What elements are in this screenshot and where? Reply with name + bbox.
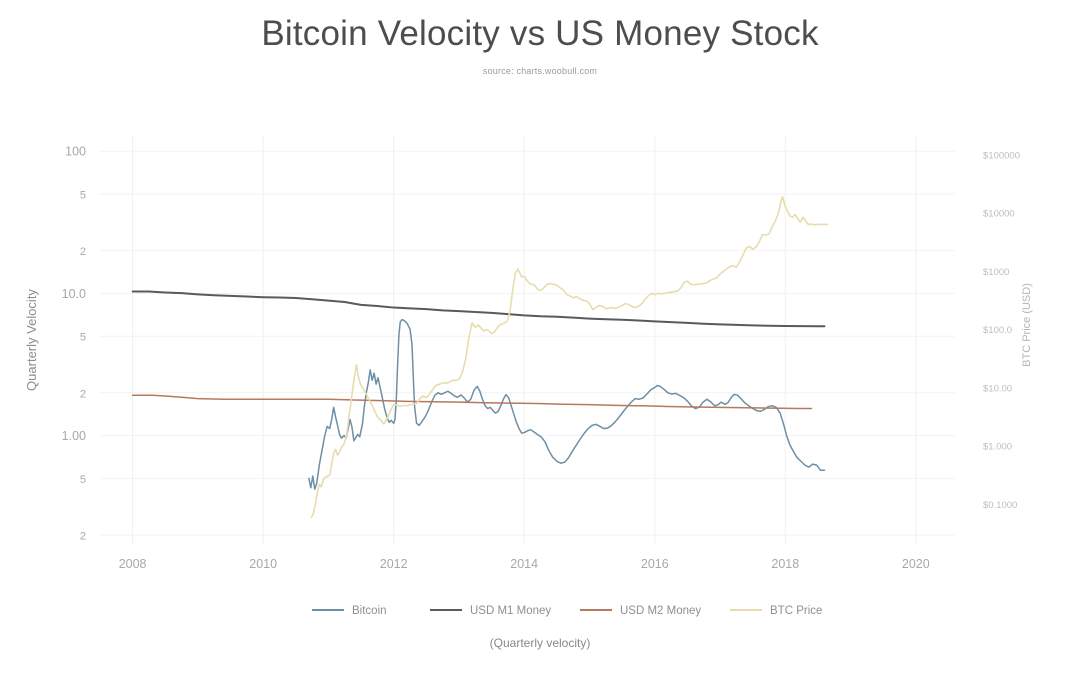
series-line-btc-price xyxy=(311,197,827,517)
y2-axis-tick-label: $0.1000 xyxy=(983,500,1017,511)
y-axis-tick-label: 5 xyxy=(80,332,86,344)
y2-axis-tick-label: $10000 xyxy=(983,209,1015,220)
y-axis-tick-label: 100 xyxy=(65,145,86,159)
x-axis-ticks: 2008201020122014201620182020 xyxy=(119,557,930,571)
legend-item-bitcoin[interactable]: Bitcoin xyxy=(312,605,387,617)
legend-item-usd-m1-money[interactable]: USD M1 Money xyxy=(430,605,551,617)
gridlines xyxy=(100,135,955,545)
chart-container: Bitcoin Velocity vs US Money Stock sourc… xyxy=(0,0,1080,675)
y2-axis-tick-label: $10.00 xyxy=(983,383,1012,394)
y-axis-tick-label: 1.00 xyxy=(62,429,86,443)
x-axis-tick-label: 2010 xyxy=(249,557,277,571)
series-line-usd-m1-money xyxy=(133,292,825,327)
y-axis-tick-label: 10.0 xyxy=(62,287,86,301)
legend-item-usd-m2-money[interactable]: USD M2 Money xyxy=(580,605,701,617)
x-axis-tick-label: 2012 xyxy=(380,557,408,571)
y-axis-tick-label: 5 xyxy=(80,190,86,202)
series-group xyxy=(133,197,828,517)
y2-axis-tick-label: $100000 xyxy=(983,150,1020,161)
chart-footer-caption: (Quarterly velocity) xyxy=(0,636,1080,650)
y2-axis-tick-label: $1000 xyxy=(983,267,1009,278)
legend-label: BTC Price xyxy=(770,605,822,617)
chart-legend: BitcoinUSD M1 MoneyUSD M2 MoneyBTC Price xyxy=(312,605,822,617)
x-axis-tick-label: 2016 xyxy=(641,557,669,571)
legend-label: Bitcoin xyxy=(352,605,387,617)
legend-item-btc-price[interactable]: BTC Price xyxy=(730,605,822,617)
y2-axis-tick-label: $1.000 xyxy=(983,442,1012,453)
chart-plot-area: 1005210.0521.0052$100000$10000$1000$100.… xyxy=(0,0,1080,675)
x-axis-tick-label: 2014 xyxy=(510,557,538,571)
y-axis-left-ticks: 1005210.0521.0052 xyxy=(62,145,86,543)
y-axis-tick-label: 2 xyxy=(80,531,86,543)
y-axis-tick-label: 2 xyxy=(80,246,86,258)
x-axis-tick-label: 2008 xyxy=(119,557,147,571)
legend-label: USD M1 Money xyxy=(470,605,551,617)
legend-label: USD M2 Money xyxy=(620,605,701,617)
x-axis-tick-label: 2020 xyxy=(902,557,930,571)
y-axis-title: Quarterly Velocity xyxy=(24,289,39,391)
y2-axis-tick-label: $100.0 xyxy=(983,325,1012,336)
y-axis-tick-label: 5 xyxy=(80,474,86,486)
y-axis-right-ticks: $100000$10000$1000$100.0$10.00$1.000$0.1… xyxy=(983,150,1020,510)
y2-axis-title: BTC Price (USD) xyxy=(1021,283,1033,367)
x-axis-tick-label: 2018 xyxy=(771,557,799,571)
y-axis-tick-label: 2 xyxy=(80,388,86,400)
